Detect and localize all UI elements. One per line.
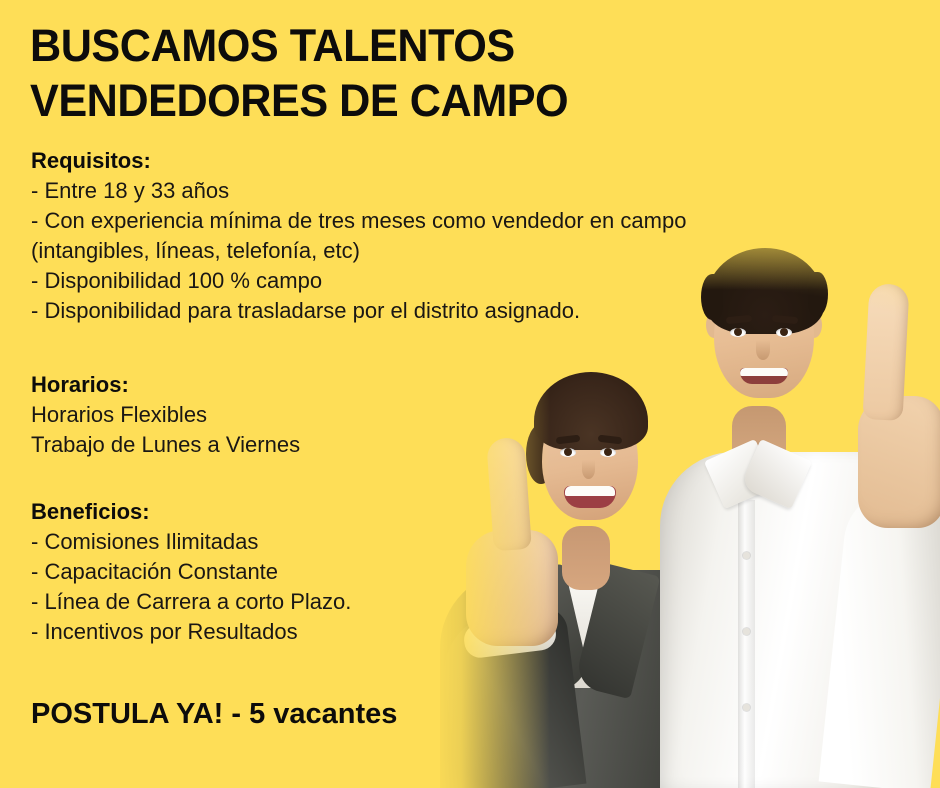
man-pupil-right <box>780 328 788 336</box>
job-posting-poster: BUSCAMOS TALENTOS VENDEDORES DE CAMPO Re… <box>0 0 940 788</box>
beneficios-line: - Comisiones Ilimitadas <box>31 527 631 557</box>
requisitos-line: - Disponibilidad para trasladarse por el… <box>31 296 631 326</box>
section-requisitos: Requisitos: - Entre 18 y 33 años - Con e… <box>31 146 631 326</box>
beneficios-line: - Línea de Carrera a corto Plazo. <box>31 587 631 617</box>
man-nose <box>756 340 770 360</box>
section-heading-beneficios: Beneficios: <box>31 497 631 527</box>
requisitos-line: (intangibles, líneas, telefonía, etc) <box>31 236 631 266</box>
section-heading-requisitos: Requisitos: <box>31 146 631 176</box>
requisitos-line: - Con experiencia mínima de tres meses c… <box>31 206 631 236</box>
poster-title: BUSCAMOS TALENTOS VENDEDORES DE CAMPO <box>30 18 625 128</box>
beneficios-line: - Capacitación Constante <box>31 557 631 587</box>
man-hair <box>706 248 824 334</box>
shirt-button <box>743 628 750 635</box>
man-pupil-left <box>734 328 742 336</box>
man-teeth <box>740 368 788 376</box>
shirt-button <box>743 552 750 559</box>
requisitos-line: - Disponibilidad 100 % campo <box>31 266 631 296</box>
section-heading-horarios: Horarios: <box>31 370 631 400</box>
man-shirt-placket <box>738 500 755 788</box>
call-to-action-text: POSTULA YA! - 5 vacantes <box>31 695 397 733</box>
horarios-line: Trabajo de Lunes a Viernes <box>31 430 631 460</box>
man-thumbs-up-icon <box>862 283 909 421</box>
section-beneficios: Beneficios: - Comisiones Ilimitadas - Ca… <box>31 497 631 647</box>
horarios-line: Horarios Flexibles <box>31 400 631 430</box>
title-line-2: VENDEDORES DE CAMPO <box>30 73 625 128</box>
shirt-button <box>743 704 750 711</box>
man-figure <box>620 200 940 788</box>
poster-text-content: BUSCAMOS TALENTOS VENDEDORES DE CAMPO Re… <box>0 0 640 788</box>
beneficios-line: - Incentivos por Resultados <box>31 617 631 647</box>
section-horarios: Horarios: Horarios Flexibles Trabajo de … <box>31 370 631 460</box>
title-line-1: BUSCAMOS TALENTOS <box>30 18 625 73</box>
man-smile <box>740 368 788 384</box>
requisitos-line: - Entre 18 y 33 años <box>31 176 631 206</box>
